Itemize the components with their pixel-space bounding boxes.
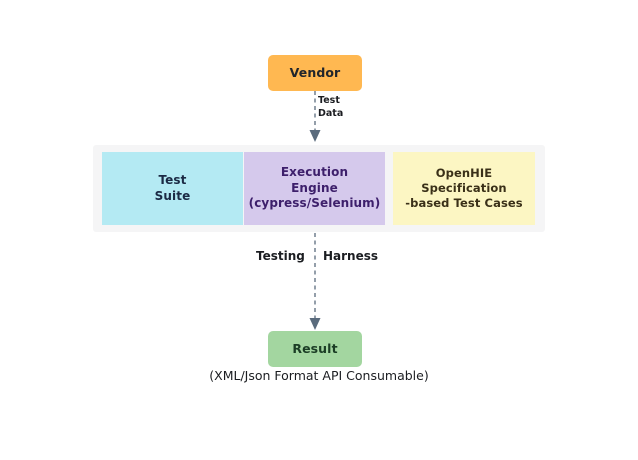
node-test-suite-line2: Suite: [155, 189, 191, 204]
node-result[interactable]: Result: [268, 331, 362, 367]
edge-label-harness: Harness: [323, 249, 378, 263]
edge-label-testing: Testing: [256, 249, 305, 263]
arrowhead-harness-to-result: [310, 318, 321, 330]
edge-label-test-data-line1: Test: [318, 95, 343, 108]
edge-label-test-data: Test Data: [318, 95, 343, 121]
node-execution-engine-line1: Execution: [249, 165, 381, 180]
node-openhie-line1: OpenHIE Specification: [393, 166, 535, 195]
node-vendor[interactable]: Vendor: [268, 55, 362, 91]
node-execution-engine-line2: Engine: [249, 181, 381, 196]
node-result-label: Result: [292, 341, 337, 357]
node-openhie-test-cases[interactable]: OpenHIE Specification -based Test Cases: [393, 152, 535, 225]
arrowhead-vendor-to-harness: [310, 130, 321, 142]
diagram-canvas: Vendor Test Data Test Suite Execution En…: [0, 0, 638, 460]
node-vendor-label: Vendor: [290, 65, 341, 81]
node-test-suite[interactable]: Test Suite: [102, 152, 243, 225]
result-format-caption: (XML/Json Format API Consumable): [0, 368, 638, 383]
node-test-suite-line1: Test: [155, 173, 191, 188]
node-execution-engine-line3: (cypress/Selenium): [249, 196, 381, 211]
node-execution-engine[interactable]: Execution Engine (cypress/Selenium): [244, 152, 385, 225]
node-openhie-line2: -based Test Cases: [393, 196, 535, 211]
edge-label-test-data-line2: Data: [318, 108, 343, 121]
